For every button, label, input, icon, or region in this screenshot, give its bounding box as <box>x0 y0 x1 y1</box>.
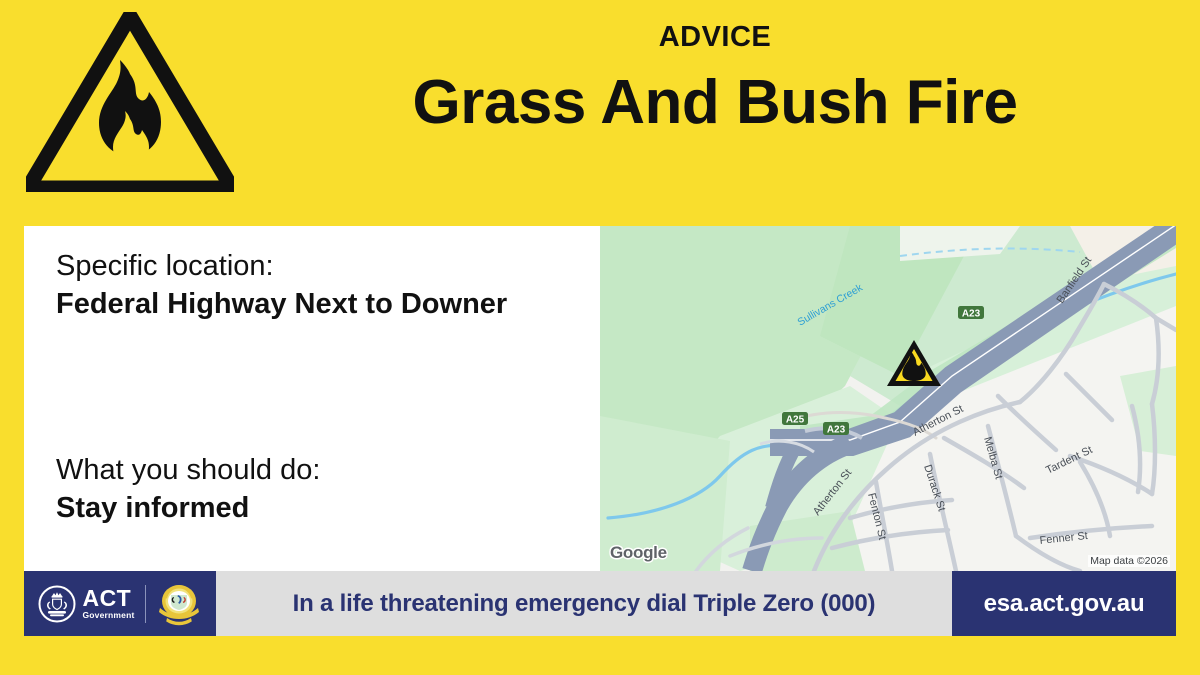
svg-text:A23: A23 <box>962 308 981 319</box>
what-you-should-do-value: Stay informed <box>56 492 516 526</box>
act-logo-sub-text: Government <box>82 611 134 620</box>
fire-warning-triangle-icon <box>26 12 234 192</box>
alert-header-text: ADVICE Grass And Bush Fire <box>250 22 1180 135</box>
incident-map[interactable]: Sullivans Creek Banfield St Atherton St … <box>600 226 1176 571</box>
severity-label: ADVICE <box>250 22 1180 54</box>
emergency-alert-card: ADVICE Grass And Bush Fire Specific loca… <box>0 0 1200 675</box>
act-wordmark: ACT Government <box>82 587 134 620</box>
route-shield-a25-interchange: A25 <box>782 412 808 425</box>
esa-crest-icon <box>156 580 202 628</box>
map-canvas: Sullivans Creek Banfield St Atherton St … <box>600 226 1176 571</box>
route-shield-a23-upper: A23 <box>958 306 984 319</box>
footer-logo-block: ACT Government <box>24 571 216 636</box>
esa-url-block[interactable]: esa.act.gov.au <box>952 571 1176 636</box>
svg-text:A23: A23 <box>827 424 846 435</box>
act-coat-of-arms-icon <box>38 585 76 623</box>
alert-title: Grass And Bush Fire <box>250 70 1180 135</box>
route-shield-a23-interchange: A23 <box>823 422 849 435</box>
map-attribution: Map data ©2026 <box>1088 555 1170 567</box>
emergency-message-strip: In a life threatening emergency dial Tri… <box>216 571 952 636</box>
esa-url-text: esa.act.gov.au <box>984 590 1145 618</box>
specific-location-value: Federal Highway Next to Downer <box>56 288 516 322</box>
emergency-message-text: In a life threatening emergency dial Tri… <box>293 590 876 618</box>
act-logo-main-text: ACT <box>82 587 134 610</box>
what-you-should-do-label: What you should do: <box>56 454 320 487</box>
alert-footer: ACT Government <box>24 571 1176 636</box>
logo-divider <box>145 585 146 623</box>
alert-body-card: Specific location: Federal Highway Next … <box>24 226 1176 571</box>
act-government-logo: ACT Government <box>38 585 134 623</box>
svg-text:A25: A25 <box>786 414 805 425</box>
google-watermark: Google <box>610 543 667 563</box>
alert-info-panel: Specific location: Federal Highway Next … <box>24 226 600 571</box>
fire-warning-marker-icon[interactable] <box>885 337 943 389</box>
alert-header: ADVICE Grass And Bush Fire <box>0 0 1200 218</box>
specific-location-label: Specific location: <box>56 250 274 283</box>
